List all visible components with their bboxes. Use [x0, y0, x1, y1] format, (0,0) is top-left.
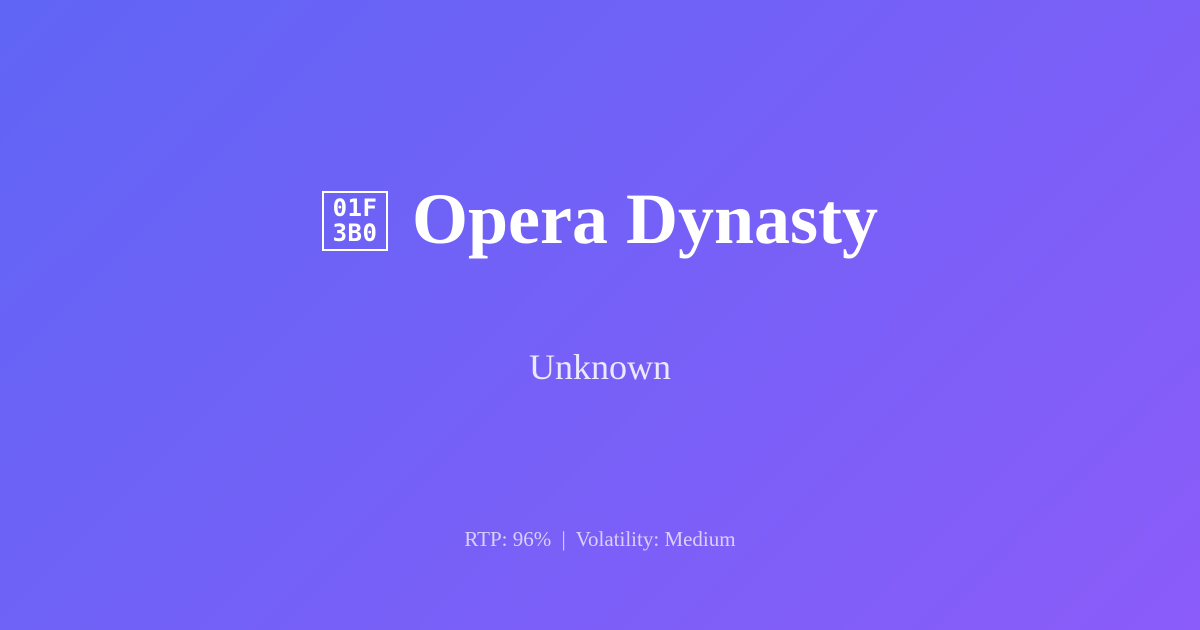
- hero-block: 01F 3B0 Opera Dynasty Unknown: [0, 0, 1200, 500]
- rtp-label: RTP:: [464, 527, 507, 551]
- title-row: 01F 3B0 Opera Dynasty: [322, 134, 878, 306]
- tofu-codepoint-top: 01F: [333, 196, 378, 221]
- page-title: Opera Dynasty: [412, 182, 878, 258]
- volatility-label: Volatility:: [576, 527, 660, 551]
- tofu-codepoint-bottom: 3B0: [333, 221, 378, 246]
- volatility-value: Medium: [664, 527, 735, 551]
- subtitle: Unknown: [529, 348, 671, 388]
- slot-machine-icon: 01F 3B0: [322, 191, 388, 251]
- meta-line: RTP: 96% | Volatility: Medium: [0, 527, 1200, 552]
- meta-separator: |: [556, 527, 570, 551]
- og-card: 01F 3B0 Opera Dynasty Unknown RTP: 96% |…: [0, 0, 1200, 630]
- rtp-value: 96%: [513, 527, 552, 551]
